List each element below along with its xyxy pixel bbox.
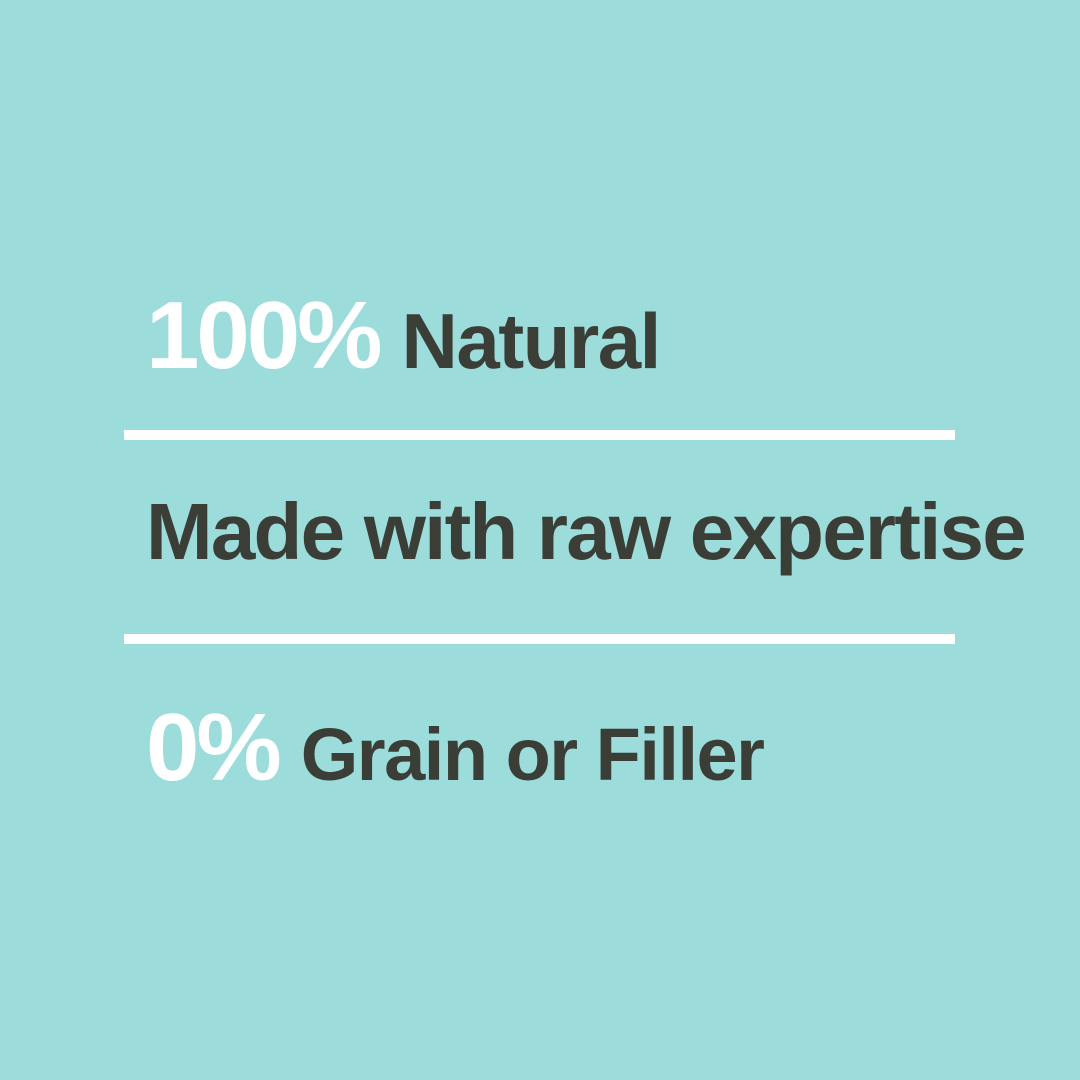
claim-row-natural: 100% Natural [146,288,1026,384]
claim-row-grain: 0% Grain or Filler [146,700,1026,796]
claim-row-expertise: Made with raw expertise [146,492,1026,572]
claim-figure-grain: 0% [146,700,279,796]
divider-bottom [124,634,955,644]
claim-label-grain: Grain or Filler [301,718,764,792]
claim-label-expertise: Made with raw expertise [146,492,1025,572]
claim-figure-natural: 100% [146,288,380,384]
claim-label-natural: Natural [402,302,660,380]
benefits-card: 100% Natural Made with raw expertise 0% … [0,0,1080,1080]
divider-top [124,430,955,440]
